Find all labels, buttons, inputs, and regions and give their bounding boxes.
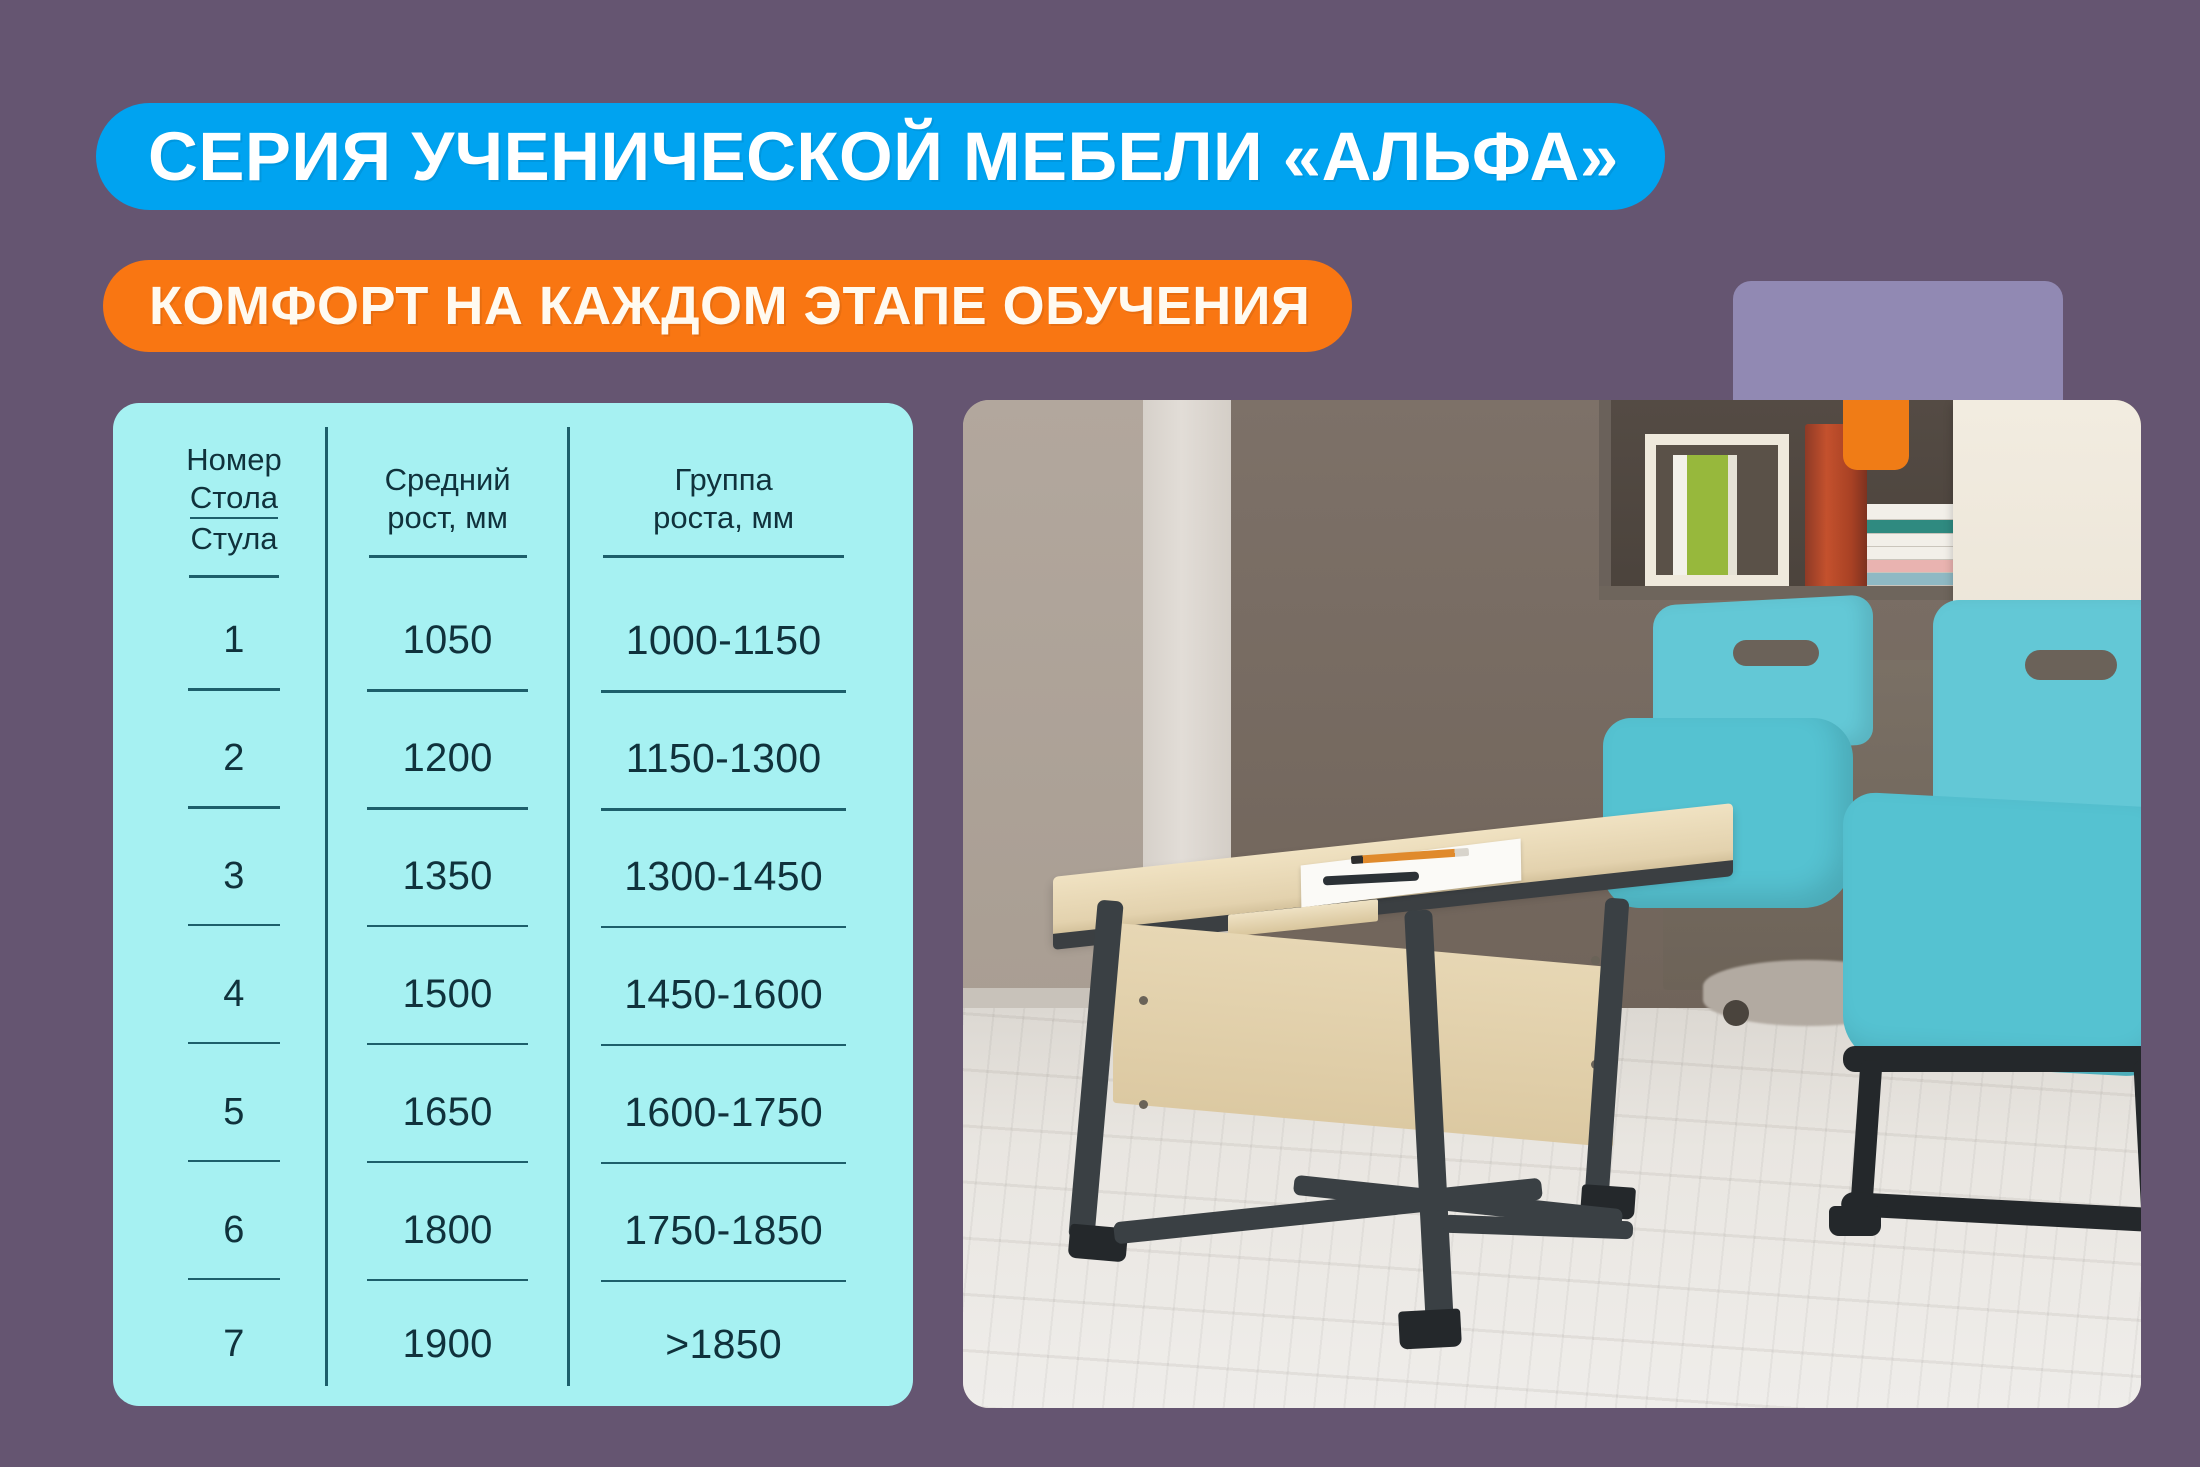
row-divider	[367, 1161, 528, 1164]
table-row: 415001450-1600	[143, 950, 877, 1068]
cell-average-height: 1650	[327, 1068, 569, 1186]
size-specification-table: Номер Стола Стула Средний рост,	[143, 427, 877, 1386]
cell-number-value: 5	[151, 1091, 317, 1134]
subtitle-banner: КОМФОРТ НА КАЖДОМ ЭТАПЕ ОБУЧЕНИЯ	[103, 260, 1352, 352]
fraction-denominator: Стула	[190, 517, 278, 558]
size-specification-card: Номер Стола Стула Средний рост,	[113, 403, 913, 1406]
green-book	[1673, 455, 1736, 575]
header-underline-height-group	[603, 555, 844, 558]
cell-average-height: 1900	[327, 1303, 569, 1386]
panel-screw	[1139, 996, 1148, 1005]
cell-height-group-value: 1150-1300	[578, 735, 869, 782]
cell-height-group: 1300-1450	[569, 832, 877, 950]
cell-average-height: 1200	[327, 714, 569, 832]
cell-height-group: 1600-1750	[569, 1068, 877, 1186]
cell-number-value: 1	[151, 619, 317, 662]
panel-screw	[1139, 1100, 1148, 1109]
cell-height-group-value: 1600-1750	[578, 1089, 869, 1136]
cell-height-group-value: 1450-1600	[578, 971, 869, 1018]
cell-number-value: 2	[151, 737, 317, 780]
column-header-number: Номер Стола Стула	[143, 427, 327, 596]
cell-number-value: 7	[151, 1323, 317, 1366]
chair-foot-front	[1829, 1206, 1881, 1236]
column-header-average-height: Средний рост, мм	[327, 427, 569, 596]
cell-number: 1	[143, 596, 327, 714]
cell-number-value: 3	[151, 855, 317, 898]
fraction-numerator: Стола	[190, 479, 278, 517]
cell-average-height: 1050	[327, 596, 569, 714]
page-subtitle: КОМФОРТ НА КАЖДОМ ЭТАПЕ ОБУЧЕНИЯ	[149, 279, 1310, 333]
page-title: СЕРИЯ УЧЕНИЧЕСКОЙ МЕБЕЛИ «АЛЬФА»	[148, 122, 1619, 191]
cell-height-group: >1850	[569, 1303, 877, 1386]
cell-number: 2	[143, 714, 327, 832]
row-divider	[188, 806, 281, 809]
cell-average-height-value: 1650	[336, 1090, 559, 1135]
column-header-number-line1: Номер	[186, 442, 281, 477]
column-header-average-height-line1: Средний	[385, 462, 511, 497]
shelf-cube	[1645, 434, 1789, 586]
table-row: 618001750-1850	[143, 1185, 877, 1303]
row-divider	[367, 807, 528, 810]
table-header: Номер Стола Стула Средний рост,	[143, 427, 877, 596]
table-row: 110501000-1150	[143, 596, 877, 714]
chair-handle-rear	[1733, 640, 1819, 666]
title-banner: СЕРИЯ УЧЕНИЧЕСКОЙ МЕБЕЛИ «АЛЬФА»	[96, 103, 1665, 210]
cell-average-height-value: 1200	[336, 736, 559, 781]
row-divider	[601, 808, 845, 811]
cell-height-group: 1150-1300	[569, 714, 877, 832]
cell-average-height-value: 1050	[336, 618, 559, 663]
table-row: 71900>1850	[143, 1303, 877, 1386]
classroom-photo	[963, 400, 2141, 1408]
row-divider	[188, 1278, 281, 1281]
cell-height-group: 1000-1150	[569, 596, 877, 714]
row-divider	[188, 1160, 281, 1163]
cell-number: 6	[143, 1185, 327, 1303]
column-header-average-height-line2: рост, мм	[387, 500, 508, 535]
cell-number-value: 6	[151, 1209, 317, 1252]
cell-height-group-value: 1300-1450	[578, 853, 869, 900]
column-header-height-group: Группа роста, мм	[569, 427, 877, 596]
desk-foot-front-right	[1398, 1308, 1462, 1349]
cell-height-group: 1450-1600	[569, 950, 877, 1068]
column-header-height-group-line1: Группа	[674, 462, 772, 497]
header-underline-number	[189, 575, 280, 578]
cell-average-height: 1350	[327, 832, 569, 950]
row-divider	[601, 1280, 845, 1283]
panel-screw	[1591, 956, 1600, 965]
cell-average-height: 1500	[327, 950, 569, 1068]
cell-number: 5	[143, 1068, 327, 1186]
table-row: 516501600-1750	[143, 1068, 877, 1186]
chair-handle-front	[2025, 650, 2117, 680]
cell-average-height-value: 1350	[336, 854, 559, 899]
table-row: 212001150-1300	[143, 714, 877, 832]
cell-average-height-value: 1800	[336, 1208, 559, 1253]
cell-number-value: 4	[151, 973, 317, 1016]
shelf-cube-interior	[1656, 445, 1778, 575]
cell-average-height-value: 1500	[336, 972, 559, 1017]
chair-seat-bar-front	[1843, 1046, 2141, 1072]
row-divider	[601, 690, 845, 693]
cell-number: 7	[143, 1303, 327, 1386]
table-header-row: Номер Стола Стула Средний рост,	[143, 427, 877, 596]
cell-height-group: 1750-1850	[569, 1185, 877, 1303]
cell-average-height-value: 1900	[336, 1322, 559, 1367]
cabinet-wheel	[1723, 1000, 1749, 1026]
row-divider	[367, 925, 528, 928]
chair-seat-front	[1843, 791, 2141, 1079]
cell-average-height: 1800	[327, 1185, 569, 1303]
shelf-divider-left	[1599, 400, 1611, 600]
row-divider	[188, 1042, 281, 1045]
row-divider	[188, 688, 281, 691]
table-row: 313501300-1450	[143, 832, 877, 950]
row-divider	[601, 926, 845, 929]
row-divider	[367, 1279, 528, 1282]
column-header-number-fraction: Стола Стула	[190, 479, 278, 558]
cell-height-group-value: >1850	[578, 1321, 869, 1368]
cell-height-group-value: 1750-1850	[578, 1207, 869, 1254]
decorative-purple-block	[1733, 281, 2063, 411]
row-divider	[188, 924, 281, 927]
row-divider	[601, 1044, 845, 1047]
table-body: 110501000-1150212001150-1300313501300-14…	[143, 596, 877, 1386]
row-divider	[367, 689, 528, 692]
classroom-scene	[963, 400, 2141, 1408]
column-header-height-group-line2: роста, мм	[653, 500, 794, 535]
header-underline-average-height	[369, 555, 527, 558]
cell-number: 4	[143, 950, 327, 1068]
row-divider	[601, 1162, 845, 1165]
row-divider	[367, 1043, 528, 1046]
cell-number: 3	[143, 832, 327, 950]
orange-wall-sign	[1843, 400, 1909, 470]
cell-height-group-value: 1000-1150	[578, 617, 869, 664]
